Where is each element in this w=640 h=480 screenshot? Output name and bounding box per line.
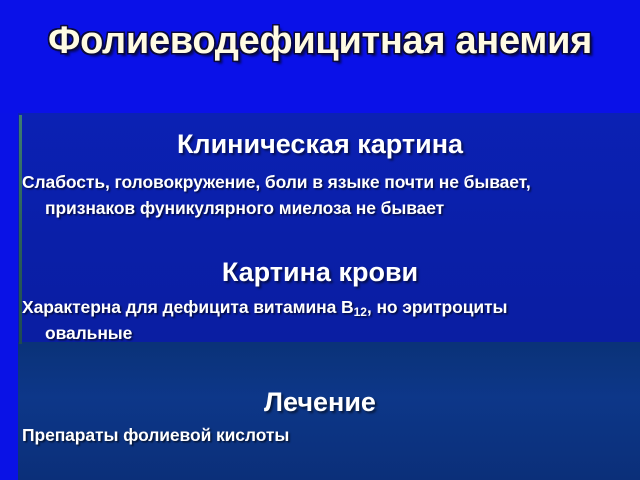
- blood-body-line-1: Характерна для дефицита витамина В12, но…: [22, 299, 507, 317]
- slide-title: Фолиеводефицитная анемия: [0, 22, 640, 62]
- presentation-slide: Фолиеводефицитная анемия Клиническая кар…: [0, 0, 640, 480]
- blood-body-line-1-tail: , но эритроциты: [367, 297, 507, 317]
- treatment-body-line-1: Препараты фолиевой кислоты: [22, 427, 289, 445]
- left-rail-background: [0, 113, 18, 480]
- section-heading-blood-picture: Картина крови: [0, 258, 640, 288]
- clinical-body-line-2: признаков фуникулярного миелоза не бывае…: [45, 200, 444, 218]
- vitamin-b12-subscript: 12: [354, 305, 367, 319]
- clinical-body-line-1: Слабость, головокружение, боли в языке п…: [22, 174, 531, 192]
- blood-body-line-1-head: Характерна для дефицита витамина В: [22, 297, 354, 317]
- section-heading-treatment: Лечение: [0, 388, 640, 418]
- section-heading-clinical-picture: Клиническая картина: [0, 130, 640, 160]
- blood-body-line-2: овальные: [45, 325, 132, 343]
